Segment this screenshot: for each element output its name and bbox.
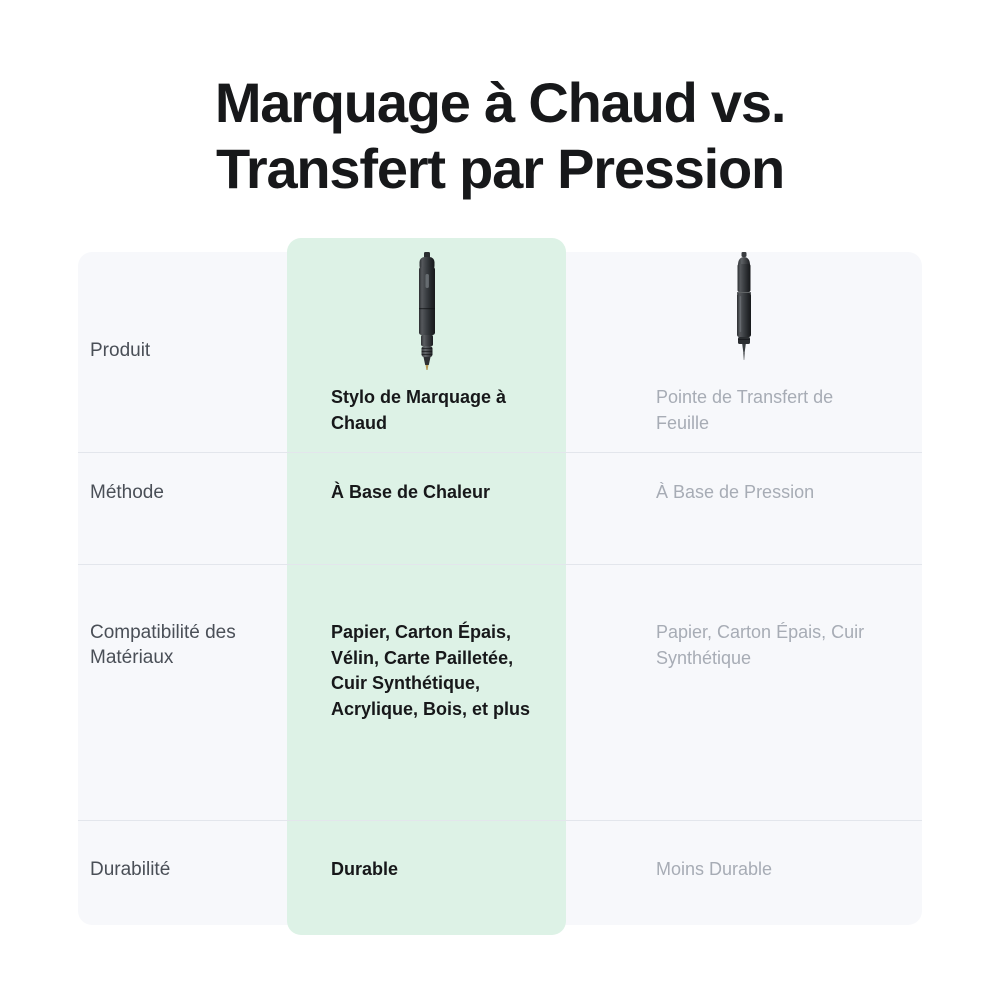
hot-stamping-pen-image	[287, 252, 566, 382]
row-label-produit: Produit	[90, 338, 280, 363]
page-title: Marquage à Chaud vs. Transfert par Press…	[0, 70, 1000, 201]
page-title-line-2: Transfert par Pression	[0, 136, 1000, 202]
row-label-methode: Méthode	[90, 480, 280, 505]
page-title-line-1: Marquage à Chaud vs.	[0, 70, 1000, 136]
cell-durabilite-hot-stamp: Durable	[331, 857, 546, 883]
product-caption-hot-stamp: Stylo de Marquage à Chaud	[331, 385, 546, 436]
comparison-page: Marquage à Chaud vs. Transfert par Press…	[0, 0, 1000, 1000]
product-caption-foil-transfer: Pointe de Transfert de Feuille	[656, 385, 886, 436]
table-rows: Produit	[78, 252, 922, 925]
table-row: Compatibilité des Matériaux Papier, Cart…	[78, 564, 922, 820]
cell-materiaux-foil-transfer: Papier, Carton Épais, Cuir Synthétique	[656, 620, 881, 671]
foil-transfer-tip-image	[566, 252, 922, 382]
row-divider	[78, 452, 922, 453]
cell-produit-foil-transfer: Pointe de Transfert de Feuille	[566, 252, 922, 452]
table-row: Méthode À Base de Chaleur À Base de Pres…	[78, 452, 922, 564]
row-divider	[78, 820, 922, 821]
row-divider	[78, 564, 922, 565]
table-row: Durabilité Durable Moins Durable	[78, 820, 922, 925]
cell-durabilite-foil-transfer: Moins Durable	[656, 857, 881, 883]
comparison-table: Produit	[78, 252, 922, 925]
cell-produit-hot-stamp: Stylo de Marquage à Chaud	[287, 252, 566, 452]
table-row: Produit	[78, 252, 922, 452]
row-label-materiaux: Compatibilité des Matériaux	[90, 620, 280, 671]
cell-methode-hot-stamp: À Base de Chaleur	[331, 480, 546, 506]
cell-methode-foil-transfer: À Base de Pression	[656, 480, 881, 506]
cell-materiaux-hot-stamp: Papier, Carton Épais, Vélin, Carte Paill…	[331, 620, 546, 722]
row-label-durabilite: Durabilité	[90, 857, 280, 882]
